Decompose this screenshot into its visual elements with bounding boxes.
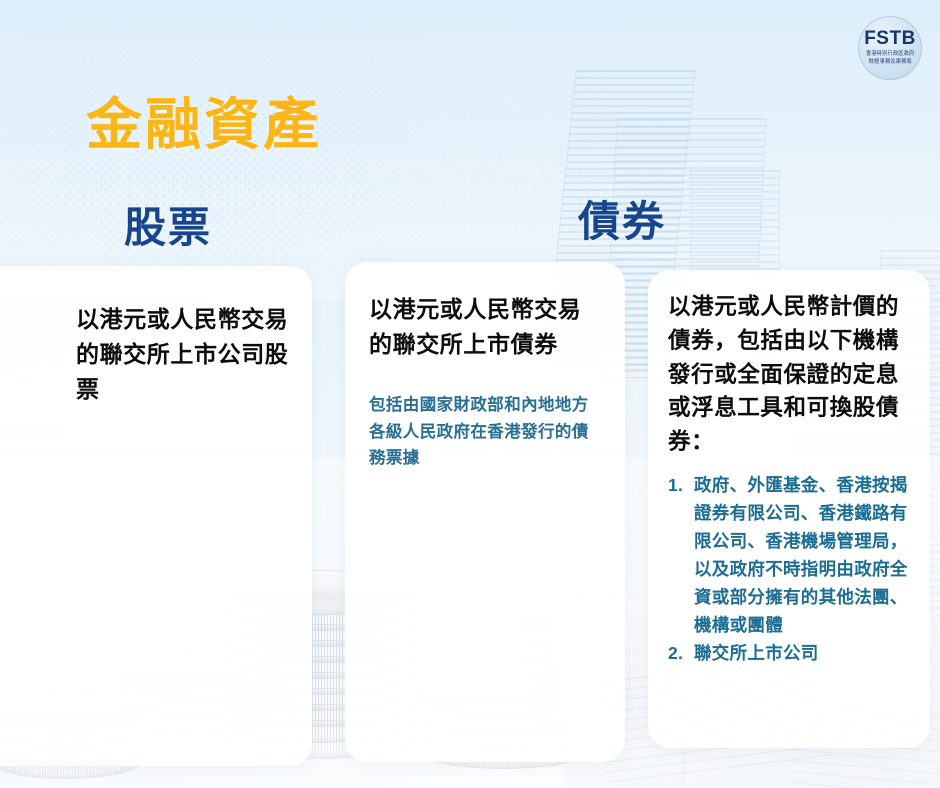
card-stocks-body: 以港元或人民幣交易的聯交所上市公司股票	[0, 266, 312, 407]
fstb-logo-subtitle-line1: 香港特別行政區政府	[866, 51, 914, 59]
card-listed-bonds-body: 以港元或人民幣交易的聯交所上市債券 包括由國家財政部和內地地方各級人民政府在香港…	[345, 262, 625, 472]
slide-canvas: FSTB 香港特別行政區政府 財經事務及庫務局 金融資產 股票 債券 以港元或人…	[0, 0, 940, 788]
list-item-text: 政府、外匯基金、香港按揭證券有限公司、香港鐵路有限公司、香港機場管理局，以及政府…	[694, 475, 908, 635]
issuer-list: 1. 政府、外匯基金、香港按揭證券有限公司、香港鐵路有限公司、香港機場管理局，以…	[668, 471, 912, 667]
card-listed-bonds: 以港元或人民幣交易的聯交所上市債券 包括由國家財政部和內地地方各級人民政府在香港…	[345, 262, 625, 762]
card-stocks-lead-text: 以港元或人民幣交易的聯交所上市公司股票	[76, 302, 290, 407]
list-item-text: 聯交所上市公司	[694, 643, 819, 663]
card-stocks: 以港元或人民幣交易的聯交所上市公司股票	[0, 266, 312, 766]
list-item-number: 2.	[668, 639, 692, 667]
list-item: 2. 聯交所上市公司	[668, 639, 912, 667]
card-priced-bonds: 以港元或人民幣計價的債券，包括由以下機構發行或全面保證的定息或浮息工具和可換股債…	[648, 270, 930, 748]
section-heading-bonds: 債券	[578, 188, 666, 249]
fstb-logo-mark: FSTB	[864, 29, 916, 48]
card-listed-bonds-note-text: 包括由國家財政部和內地地方各級人民政府在香港發行的債務票據	[369, 392, 603, 472]
page-title: 金融資產	[86, 80, 322, 161]
card-priced-bonds-lead-text: 以港元或人民幣計價的債券，包括由以下機構發行或全面保證的定息或浮息工具和可換股債…	[668, 290, 912, 459]
section-heading-stocks: 股票	[124, 194, 212, 255]
card-priced-bonds-body: 以港元或人民幣計價的債券，包括由以下機構發行或全面保證的定息或浮息工具和可換股債…	[648, 270, 930, 667]
list-item-number: 1.	[668, 471, 692, 499]
card-listed-bonds-lead-text: 以港元或人民幣交易的聯交所上市債券	[369, 292, 603, 362]
fstb-logo-subtitle-line2: 財經事務及庫務局	[869, 59, 912, 67]
fstb-logo: FSTB 香港特別行政區政府 財經事務及庫務局	[858, 16, 922, 80]
list-item: 1. 政府、外匯基金、香港按揭證券有限公司、香港鐵路有限公司、香港機場管理局，以…	[668, 471, 912, 639]
